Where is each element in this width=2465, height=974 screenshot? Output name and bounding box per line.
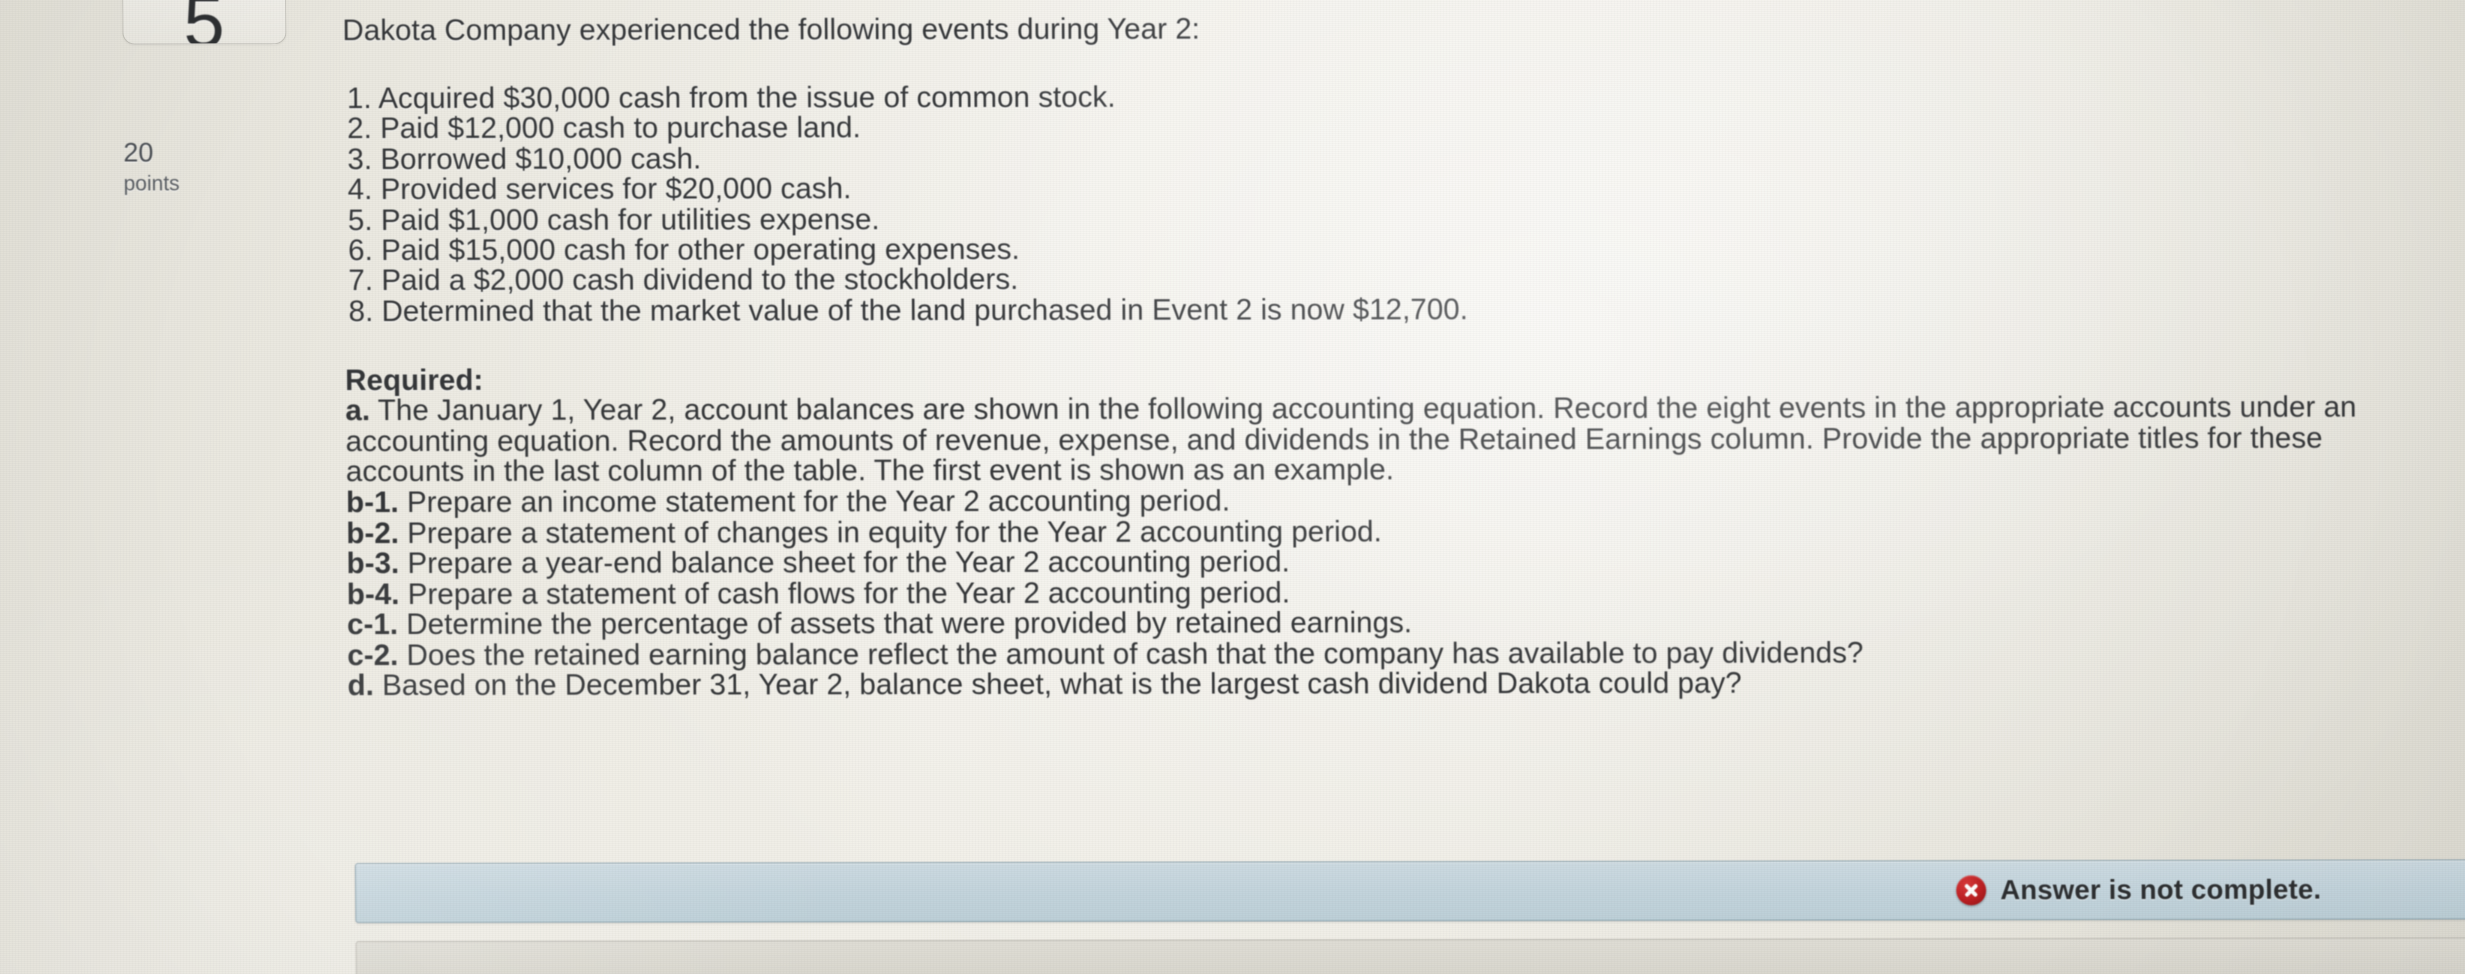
list-item: b-2. Prepare a statement of changes in e… <box>346 515 2436 549</box>
list-item: 1. Acquired $30,000 cash from the issue … <box>343 80 2433 114</box>
requirement-text: Based on the December 31, Year 2, balanc… <box>374 667 1742 702</box>
list-item: b-3. Prepare a year-end balance sheet fo… <box>346 546 2436 580</box>
status-badge: Answer is not complete. <box>1956 874 2321 907</box>
requirement-tag: b-1. <box>346 486 399 519</box>
requirement-text: Prepare an income statement for the Year… <box>399 484 1231 518</box>
answer-status-bar: Answer is not complete. <box>355 859 2465 923</box>
points-block: 20 points <box>123 137 273 196</box>
question-gutter: 5 20 points <box>0 1 334 974</box>
requirement-text: Prepare a statement of changes in equity… <box>399 515 1382 550</box>
list-item: d. Based on the December 31, Year 2, bal… <box>347 668 2437 702</box>
list-item: 5. Paid $1,000 cash for utilities expens… <box>344 202 2434 236</box>
list-item: a. The January 1, Year 2, account balanc… <box>345 393 2416 488</box>
problem-body: Dakota Company experienced the following… <box>342 0 2438 702</box>
requirement-text: The January 1, Year 2, account balances … <box>345 391 2356 489</box>
requirement-tag: b-3. <box>346 547 399 580</box>
list-item: 2. Paid $12,000 cash to purchase land. <box>343 111 2433 145</box>
requirements-list: a. The January 1, Year 2, account balanc… <box>345 393 2437 703</box>
points-value: 20 <box>123 137 273 168</box>
list-item: 7. Paid a $2,000 cash dividend to the st… <box>344 263 2434 297</box>
requirement-text: Prepare a year-end balance sheet for the… <box>399 546 1290 581</box>
list-item: 6. Paid $15,000 cash for other operating… <box>344 232 2434 266</box>
requirement-tag: b-4. <box>347 578 400 611</box>
problem-intro: Dakota Company experienced the following… <box>342 0 2432 50</box>
requirement-tag: d. <box>347 670 374 703</box>
events-list: 1. Acquired $30,000 cash from the issue … <box>343 80 2435 327</box>
status-badge-label: Answer is not complete. <box>2000 874 2321 907</box>
list-item: 8. Determined that the market value of t… <box>344 293 2434 327</box>
list-item: b-4. Prepare a statement of cash flows f… <box>347 576 2437 610</box>
list-item: c-2. Does the retained earning balance r… <box>347 637 2437 671</box>
photographed-screen-canvas: 5 20 points Dakota Company experienced t… <box>0 0 2465 974</box>
error-circle-x-icon <box>1956 875 1986 905</box>
list-item: b-1. Prepare an income statement for the… <box>346 484 2436 518</box>
requirement-tag: a. <box>345 394 370 427</box>
required-section: Required: a. The January 1, Year 2, acco… <box>345 362 2438 703</box>
requirement-tag: c-1. <box>347 608 398 641</box>
requirement-text: Prepare a statement of cash flows for th… <box>399 576 1290 611</box>
list-item: 3. Borrowed $10,000 cash. <box>343 141 2433 175</box>
question-number-badge: 5 <box>122 0 287 45</box>
question-number: 5 <box>183 0 225 45</box>
list-item: 4. Provided services for $20,000 cash. <box>344 172 2434 206</box>
list-item: c-1. Determine the percentage of assets … <box>347 607 2437 641</box>
requirement-tag: b-2. <box>346 517 399 550</box>
points-label: points <box>124 172 274 196</box>
requirement-tag: c-2. <box>347 639 398 672</box>
requirement-text: Determine the percentage of assets that … <box>398 607 1412 642</box>
answer-panel-top-edge[interactable] <box>356 937 2465 974</box>
